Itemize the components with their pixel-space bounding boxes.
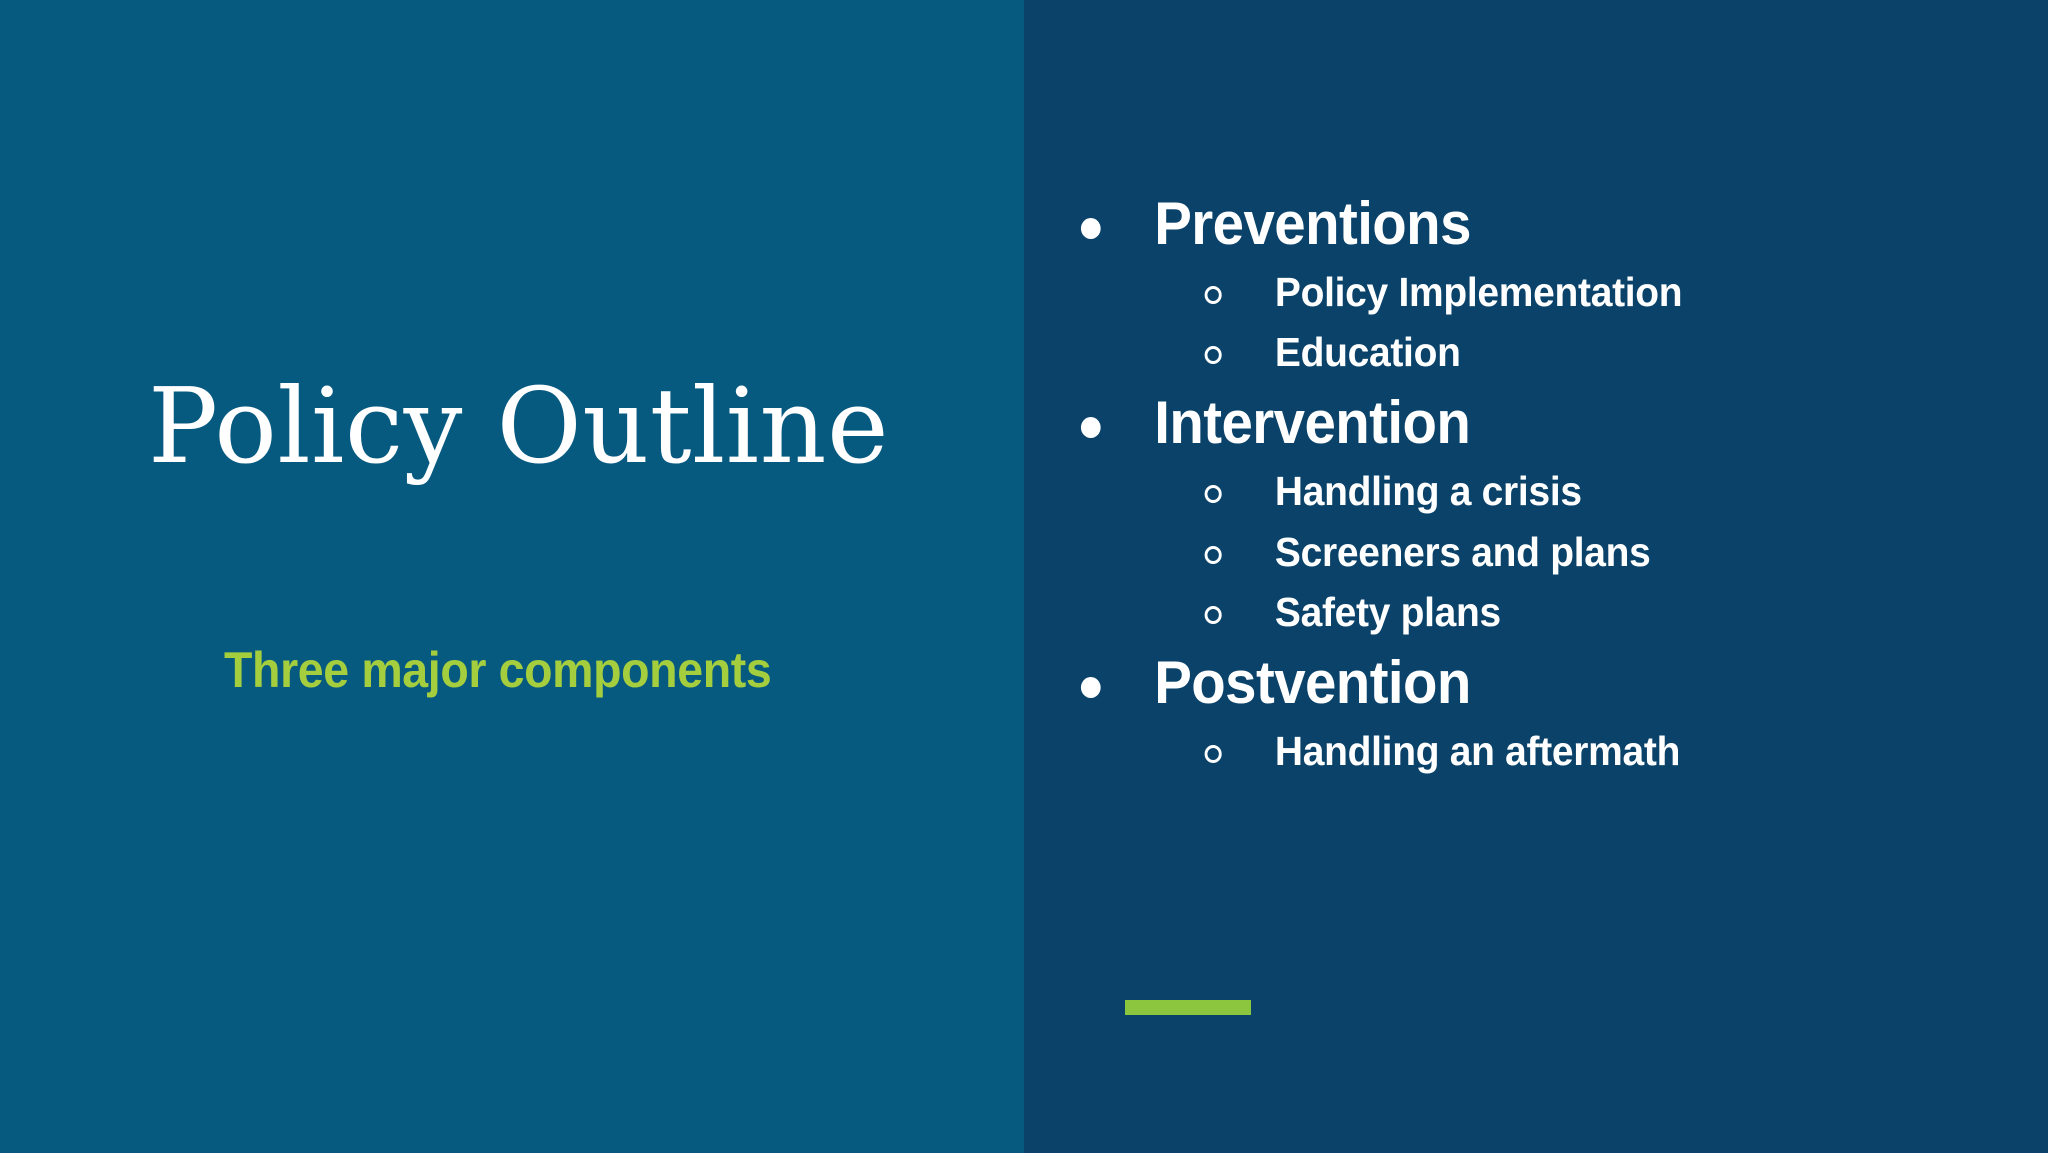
left-title-panel: Policy Outline Three major components	[0, 0, 1024, 1153]
accent-bar-decoration	[1125, 1000, 1251, 1015]
outline-group: Postvention Handling an aftermath	[1064, 645, 2024, 779]
hollow-circle-bullet-icon	[1205, 485, 1222, 503]
outline-subitem-safety-plans[interactable]: Safety plans	[1064, 585, 1976, 640]
outline-subitem-label: Education	[1275, 329, 1461, 375]
filled-circle-bullet-icon	[1081, 677, 1101, 698]
outline-subitem-label: Handling a crisis	[1275, 468, 1582, 514]
outline-sublist: Handling a crisis Screeners and plans Sa…	[1064, 464, 2024, 640]
outline-group: Intervention Handling a crisis Screeners…	[1064, 385, 2024, 640]
outline-subitem-label: Safety plans	[1275, 589, 1501, 635]
outline-item-preventions[interactable]: Preventions	[1064, 186, 1966, 263]
outline-subitem-handling-an-aftermath[interactable]: Handling an aftermath	[1064, 724, 1976, 779]
hollow-circle-bullet-icon	[1205, 546, 1222, 564]
outline-group: Preventions Policy Implementation Educat…	[1064, 186, 2024, 380]
outline-item-intervention[interactable]: Intervention	[1064, 385, 1966, 462]
presentation-slide: Policy Outline Three major components Pr…	[0, 0, 2048, 1153]
outline-subitem-education[interactable]: Education	[1064, 325, 1976, 380]
hollow-circle-bullet-icon	[1205, 745, 1222, 763]
hollow-circle-bullet-icon	[1205, 286, 1222, 304]
outline-subitem-handling-a-crisis[interactable]: Handling a crisis	[1064, 464, 1976, 519]
filled-circle-bullet-icon	[1081, 218, 1101, 239]
outline-subitem-screeners-and-plans[interactable]: Screeners and plans	[1064, 525, 1976, 580]
hollow-circle-bullet-icon	[1205, 606, 1222, 624]
hollow-circle-bullet-icon	[1205, 346, 1222, 364]
outline-subitem-label: Policy Implementation	[1275, 269, 1682, 315]
outline-subitem-policy-implementation[interactable]: Policy Implementation	[1064, 265, 1976, 320]
outline-sublist: Policy Implementation Education	[1064, 265, 2024, 381]
outline-list: Preventions Policy Implementation Educat…	[1064, 186, 2024, 784]
left-panel-content: Policy Outline Three major components	[0, 0, 1024, 1153]
filled-circle-bullet-icon	[1081, 417, 1101, 438]
outline-subitem-label: Handling an aftermath	[1275, 728, 1680, 774]
slide-subtitle: Three major components	[224, 641, 968, 700]
outline-item-label: Intervention	[1154, 389, 1470, 456]
outline-item-postvention[interactable]: Postvention	[1064, 645, 1966, 722]
outline-item-label: Postvention	[1154, 649, 1471, 716]
outline-subitem-label: Screeners and plans	[1275, 529, 1651, 575]
page-title: Policy Outline	[148, 368, 948, 484]
outline-sublist: Handling an aftermath	[1064, 724, 2024, 779]
right-outline-panel: Preventions Policy Implementation Educat…	[1024, 0, 2048, 1153]
outline-item-label: Preventions	[1154, 190, 1471, 257]
